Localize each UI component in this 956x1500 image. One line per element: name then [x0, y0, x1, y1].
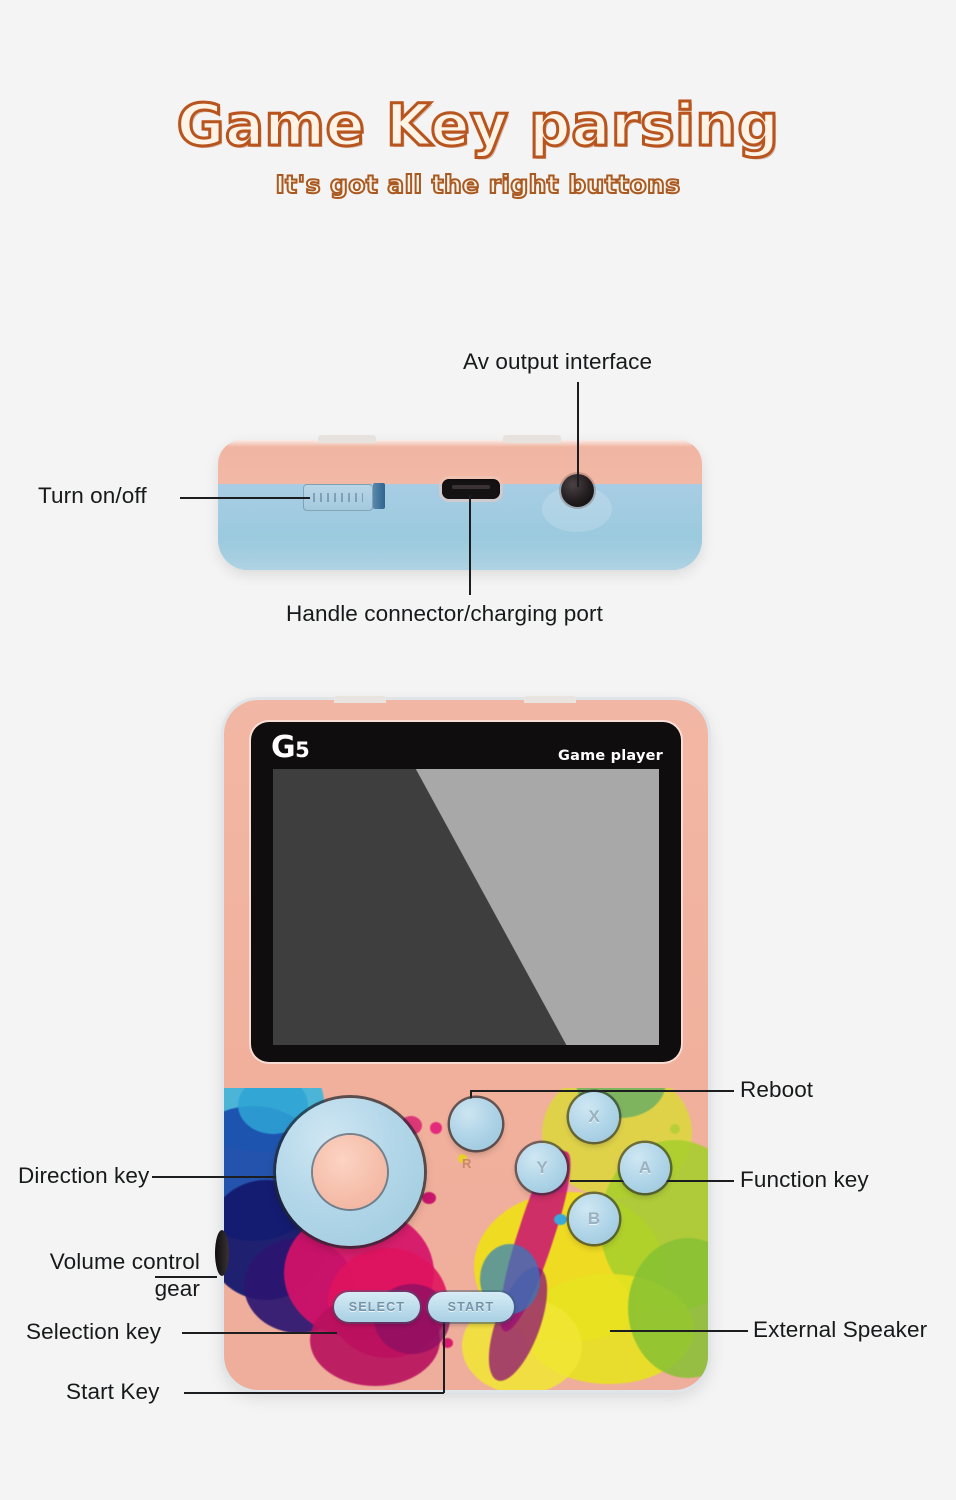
- power-switch-knurl: [313, 493, 363, 502]
- shoulder-button-right-nub[interactable]: [503, 435, 561, 443]
- action-button-a[interactable]: A: [620, 1143, 670, 1193]
- leader-reboot-h: [472, 1090, 734, 1092]
- action-button-b-label: B: [588, 1209, 600, 1229]
- callout-av-output: Av output interface: [463, 348, 652, 375]
- screen-glare: [273, 769, 659, 1045]
- leader-turn-on-off: [180, 497, 310, 499]
- page-subtitle: It's got all the right buttons: [0, 170, 956, 199]
- brand-tagline: Game player: [558, 748, 663, 764]
- leader-selection-key: [182, 1332, 337, 1334]
- micro-usb-port[interactable]: [442, 479, 500, 499]
- reboot-button-label: R: [462, 1156, 471, 1171]
- callout-selection-key: Selection key: [26, 1318, 161, 1345]
- callout-function-key: Function key: [740, 1166, 869, 1193]
- header-block: Game Key parsing It's got all the right …: [0, 95, 956, 199]
- leader-start-key-h: [184, 1392, 444, 1394]
- action-button-y-label: Y: [536, 1158, 547, 1178]
- callout-reboot: Reboot: [740, 1076, 813, 1103]
- callout-volume-line1: Volume control: [50, 1249, 200, 1274]
- shoulder-button-r1-nub[interactable]: [524, 696, 576, 703]
- action-button-x-label: X: [588, 1107, 599, 1127]
- leader-start-key-v: [443, 1320, 445, 1393]
- device-front-shell: G5 Game player R X Y A B SELECT START: [224, 700, 708, 1390]
- shoulder-button-l1-nub[interactable]: [334, 696, 386, 703]
- top-rim-highlight: [228, 440, 692, 447]
- select-button[interactable]: SELECT: [334, 1292, 420, 1322]
- screen-bezel: G5 Game player: [251, 722, 681, 1062]
- leader-volume-control-gear: [155, 1276, 217, 1278]
- shoulder-button-left-nub[interactable]: [318, 435, 376, 443]
- callout-direction-key: Direction key: [18, 1162, 149, 1189]
- callout-volume-line2: gear: [155, 1276, 200, 1301]
- action-button-y[interactable]: Y: [517, 1143, 567, 1193]
- device-front-view: G5 Game player R X Y A B SELECT START: [224, 700, 708, 1390]
- power-switch-tab[interactable]: [373, 483, 385, 509]
- top-shell-sheen: [218, 536, 702, 570]
- start-button[interactable]: START: [428, 1292, 514, 1322]
- brand-logo-main: G: [271, 730, 295, 765]
- leader-handle-connector: [469, 495, 471, 595]
- leader-av-output: [577, 382, 579, 487]
- volume-control-gear[interactable]: [215, 1230, 229, 1276]
- device-top-shell: [218, 440, 702, 570]
- callout-external-speaker: External Speaker: [753, 1316, 927, 1343]
- page-title: Game Key parsing: [0, 95, 956, 156]
- direction-key-center[interactable]: [313, 1135, 387, 1209]
- callout-turn-on-off: Turn on/off: [38, 482, 147, 509]
- device-top-edge-view: [218, 440, 702, 570]
- callout-handle-connector: Handle connector/charging port: [286, 600, 603, 627]
- brand-logo: G5: [271, 730, 309, 765]
- direction-key[interactable]: [276, 1098, 424, 1246]
- device-screen: [273, 769, 659, 1045]
- action-button-x[interactable]: X: [569, 1092, 619, 1142]
- start-button-label: START: [448, 1300, 495, 1314]
- action-button-b[interactable]: B: [569, 1194, 619, 1244]
- action-button-a-label: A: [639, 1158, 651, 1178]
- leader-external-speaker: [610, 1330, 748, 1332]
- brand-logo-sub: 5: [295, 738, 309, 762]
- power-switch[interactable]: [303, 484, 373, 511]
- callout-start-key: Start Key: [66, 1378, 159, 1405]
- select-button-label: SELECT: [349, 1300, 406, 1314]
- reboot-button[interactable]: [450, 1098, 502, 1150]
